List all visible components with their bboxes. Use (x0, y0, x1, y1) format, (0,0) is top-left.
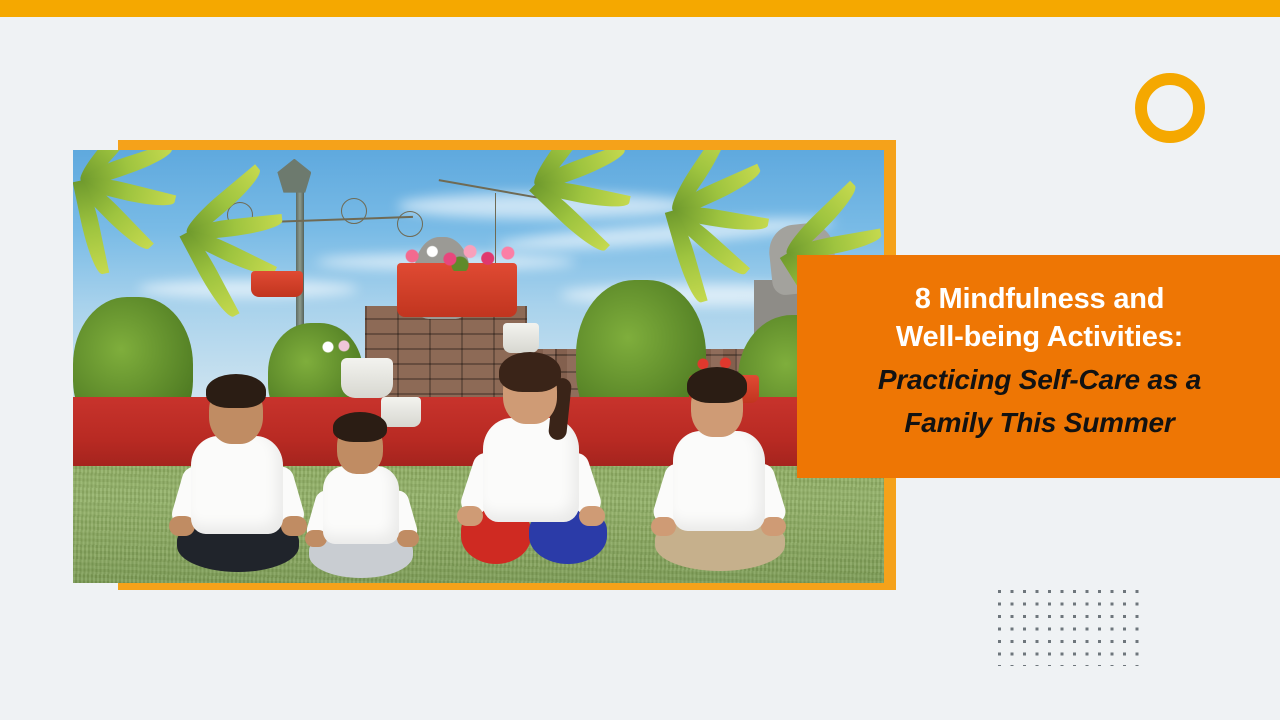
title-line-2: Well-being Activities: (823, 319, 1256, 357)
red-planter-small (251, 271, 303, 297)
photo-scene (73, 150, 884, 583)
lamp-post-pole (296, 189, 304, 328)
subtitle-line-2: Family This Summer (823, 405, 1256, 441)
subtitle-line-1: Practicing Self-Care as a (823, 362, 1256, 398)
dot-grid-decoration (998, 590, 1140, 666)
pink-flowers (397, 241, 523, 271)
scrollwork (397, 211, 423, 237)
white-pot (503, 323, 539, 353)
family-meditation-photo (73, 150, 884, 583)
title-line-1: 8 Mindfulness and (823, 281, 1256, 319)
white-pot (341, 358, 393, 398)
title-panel: 8 Mindfulness and Well-being Activities:… (797, 255, 1280, 478)
white-pot (381, 397, 421, 427)
cloud (138, 280, 358, 298)
